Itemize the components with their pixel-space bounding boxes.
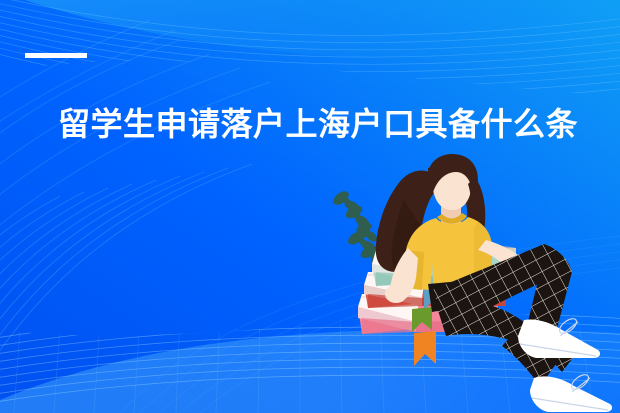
- bookmark-orange: [414, 331, 436, 366]
- banner-image: 留学生申请落户上海户口具备什么条: [0, 0, 620, 413]
- illustration-woman-on-books: [0, 0, 620, 413]
